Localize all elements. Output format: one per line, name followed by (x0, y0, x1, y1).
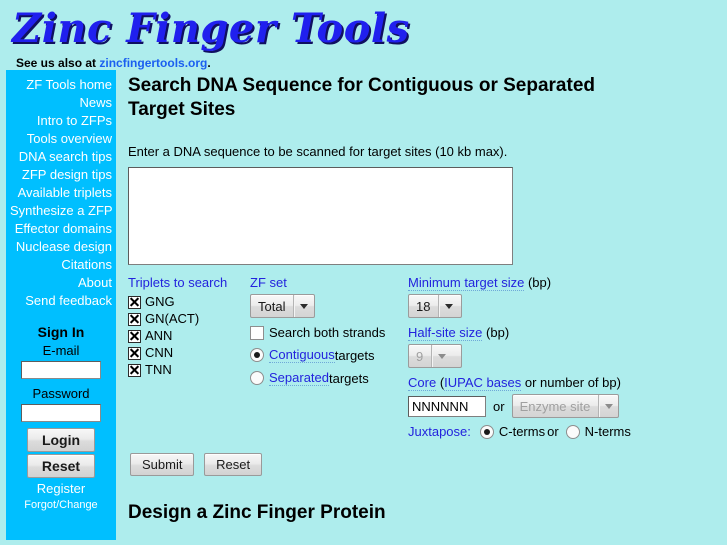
sidebar-item-news[interactable]: News (10, 94, 112, 112)
checkbox-search-both-strands[interactable] (250, 326, 264, 340)
design-zfp-heading: Design a Zinc Finger Protein (128, 502, 727, 524)
juxtapose-row: Juxtapose: C-terms or N-terms (408, 424, 638, 439)
core-or-word: or (493, 399, 505, 414)
tagline: See us also at zincfingertools.org. (8, 52, 727, 70)
password-label: Password (10, 385, 112, 403)
checkbox-gng[interactable] (128, 296, 141, 309)
zfset-column: ZF set Total Search both strands Contigu… (250, 275, 408, 386)
sidebar: ZF Tools home News Intro to ZFPs Tools o… (6, 70, 116, 540)
triplet-option-gng[interactable]: GNG (128, 294, 250, 310)
triplet-label-cnn: CNN (145, 345, 173, 361)
triplet-label-gng: GNG (145, 294, 175, 310)
core-input[interactable] (408, 396, 486, 417)
half-site-size-select[interactable]: 9 (408, 344, 462, 368)
sidebar-item-intro-to-zfps[interactable]: Intro to ZFPs (10, 112, 112, 130)
triplet-label-tnn: TNN (145, 362, 172, 378)
triplet-option-cnn[interactable]: CNN (128, 345, 250, 361)
sidebar-item-about[interactable]: About (10, 274, 112, 292)
zfset-selected-value: Total (251, 295, 293, 317)
main-content: Search DNA Sequence for Contiguous or Se… (116, 70, 727, 524)
tagline-prefix: See us also at (16, 56, 99, 70)
triplet-option-gnact[interactable]: GN(ACT) (128, 311, 250, 327)
sidebar-item-nuclease-design[interactable]: Nuclease design (10, 238, 112, 256)
register-link[interactable]: Register (10, 480, 112, 497)
reset-button[interactable]: Reset (204, 453, 262, 476)
site-title: Zinc Finger Tools (8, 4, 727, 52)
radio-juxtapose-n-terms[interactable] (566, 425, 580, 439)
minimum-target-size-value: 18 (409, 295, 438, 317)
triplets-column: Triplets to search GNG GN(ACT) ANN CNN (128, 275, 250, 379)
search-options: Triplets to search GNG GN(ACT) ANN CNN (128, 275, 727, 439)
triplet-label-ann: ANN (145, 328, 172, 344)
form-buttons: Submit Reset (128, 453, 727, 476)
chevron-down-icon (293, 295, 313, 317)
enzyme-site-value: Enzyme site (513, 395, 599, 417)
sidebar-item-zfp-design-tips[interactable]: ZFP design tips (10, 166, 112, 184)
triplet-label-gnact: GN(ACT) (145, 311, 199, 327)
radio-separated-targets[interactable] (250, 371, 264, 385)
triplet-option-tnn[interactable]: TNN (128, 362, 250, 378)
zfset-heading: ZF set (250, 275, 408, 290)
email-label: E-mail (10, 342, 112, 360)
iupac-bases-help-link[interactable]: IUPAC bases (444, 375, 521, 391)
separated-help-link[interactable]: Separated (269, 370, 329, 386)
sidebar-reset-button[interactable]: Reset (27, 454, 95, 478)
sidebar-item-available-triplets[interactable]: Available triplets (10, 184, 112, 202)
separated-suffix: targets (329, 371, 369, 386)
checkbox-ann[interactable] (128, 330, 141, 343)
search-both-strands-label: Search both strands (269, 325, 385, 340)
tagline-suffix: . (207, 56, 210, 70)
half-site-size-row: Half-site size (bp) (408, 325, 638, 340)
minimum-target-size-help-link[interactable]: Minimum target size (408, 275, 524, 291)
juxtapose-n-terms-label: N-terms (585, 424, 631, 439)
intro-text: Enter a DNA sequence to be scanned for t… (128, 144, 727, 159)
radio-contiguous-targets[interactable] (250, 348, 264, 362)
chevron-down-icon (431, 345, 451, 367)
core-row: Core (IUPAC bases or number of bp) (408, 375, 638, 390)
juxtapose-label: Juxtapose: (408, 424, 471, 439)
core-note-rest: or number of bp) (521, 375, 621, 390)
zincfingertools-link[interactable]: zincfingertools.org (99, 56, 207, 70)
login-button[interactable]: Login (27, 428, 95, 452)
sidebar-item-citations[interactable]: Citations (10, 256, 112, 274)
contiguous-targets-option[interactable]: Contiguous targets (250, 347, 408, 363)
password-field[interactable] (21, 404, 101, 422)
sidebar-item-tools-overview[interactable]: Tools overview (10, 130, 112, 148)
juxtapose-or-word: or (547, 424, 559, 439)
triplets-heading: Triplets to search (128, 275, 250, 290)
checkbox-tnn[interactable] (128, 364, 141, 377)
triplet-option-ann[interactable]: ANN (128, 328, 250, 344)
minimum-target-size-row: Minimum target size (bp) (408, 275, 638, 290)
contiguous-suffix: targets (335, 348, 375, 363)
core-field-row: or Enzyme site (408, 394, 638, 418)
page-header: Zinc Finger Tools See us also at zincfin… (0, 0, 727, 70)
radio-juxtapose-c-terms[interactable] (480, 425, 494, 439)
forgot-change-link[interactable]: Forgot/Change (10, 497, 112, 514)
sidebar-item-zf-tools-home[interactable]: ZF Tools home (10, 76, 112, 94)
page-layout: ZF Tools home News Intro to ZFPs Tools o… (0, 70, 727, 540)
sign-in-title: Sign In (10, 324, 112, 342)
enzyme-site-select[interactable]: Enzyme site (512, 394, 620, 418)
juxtapose-c-terms-label: C-terms (499, 424, 545, 439)
checkbox-cnn[interactable] (128, 347, 141, 360)
sign-in-block: Sign In E-mail Password Login Reset Regi… (10, 324, 112, 514)
half-site-size-help-link[interactable]: Half-site size (408, 325, 482, 341)
sidebar-item-synthesize-a-zfp[interactable]: Synthesize a ZFP (10, 202, 112, 220)
minimum-target-size-unit: (bp) (528, 275, 551, 290)
email-field[interactable] (21, 361, 101, 379)
half-site-size-field: 9 (408, 344, 638, 368)
core-help-link[interactable]: Core (408, 375, 436, 391)
minimum-target-size-field: 18 (408, 294, 638, 318)
zfset-select[interactable]: Total (250, 294, 315, 318)
minimum-target-size-select[interactable]: 18 (408, 294, 462, 318)
sidebar-item-dna-search-tips[interactable]: DNA search tips (10, 148, 112, 166)
contiguous-help-link[interactable]: Contiguous (269, 347, 335, 363)
page-title: Search DNA Sequence for Contiguous or Se… (128, 74, 598, 122)
dna-sequence-textarea[interactable] (128, 167, 513, 265)
submit-button[interactable]: Submit (130, 453, 194, 476)
checkbox-gnact[interactable] (128, 313, 141, 326)
chevron-down-icon (598, 395, 618, 417)
separated-targets-option[interactable]: Separated targets (250, 370, 408, 386)
half-site-size-value: 9 (409, 345, 431, 367)
sidebar-item-send-feedback[interactable]: Send feedback (10, 292, 112, 310)
half-site-size-unit: (bp) (486, 325, 509, 340)
sidebar-item-effector-domains[interactable]: Effector domains (10, 220, 112, 238)
chevron-down-icon (438, 295, 458, 317)
search-both-strands-option[interactable]: Search both strands (250, 325, 408, 340)
sizes-column: Minimum target size (bp) 18 Half-site si… (408, 275, 638, 439)
